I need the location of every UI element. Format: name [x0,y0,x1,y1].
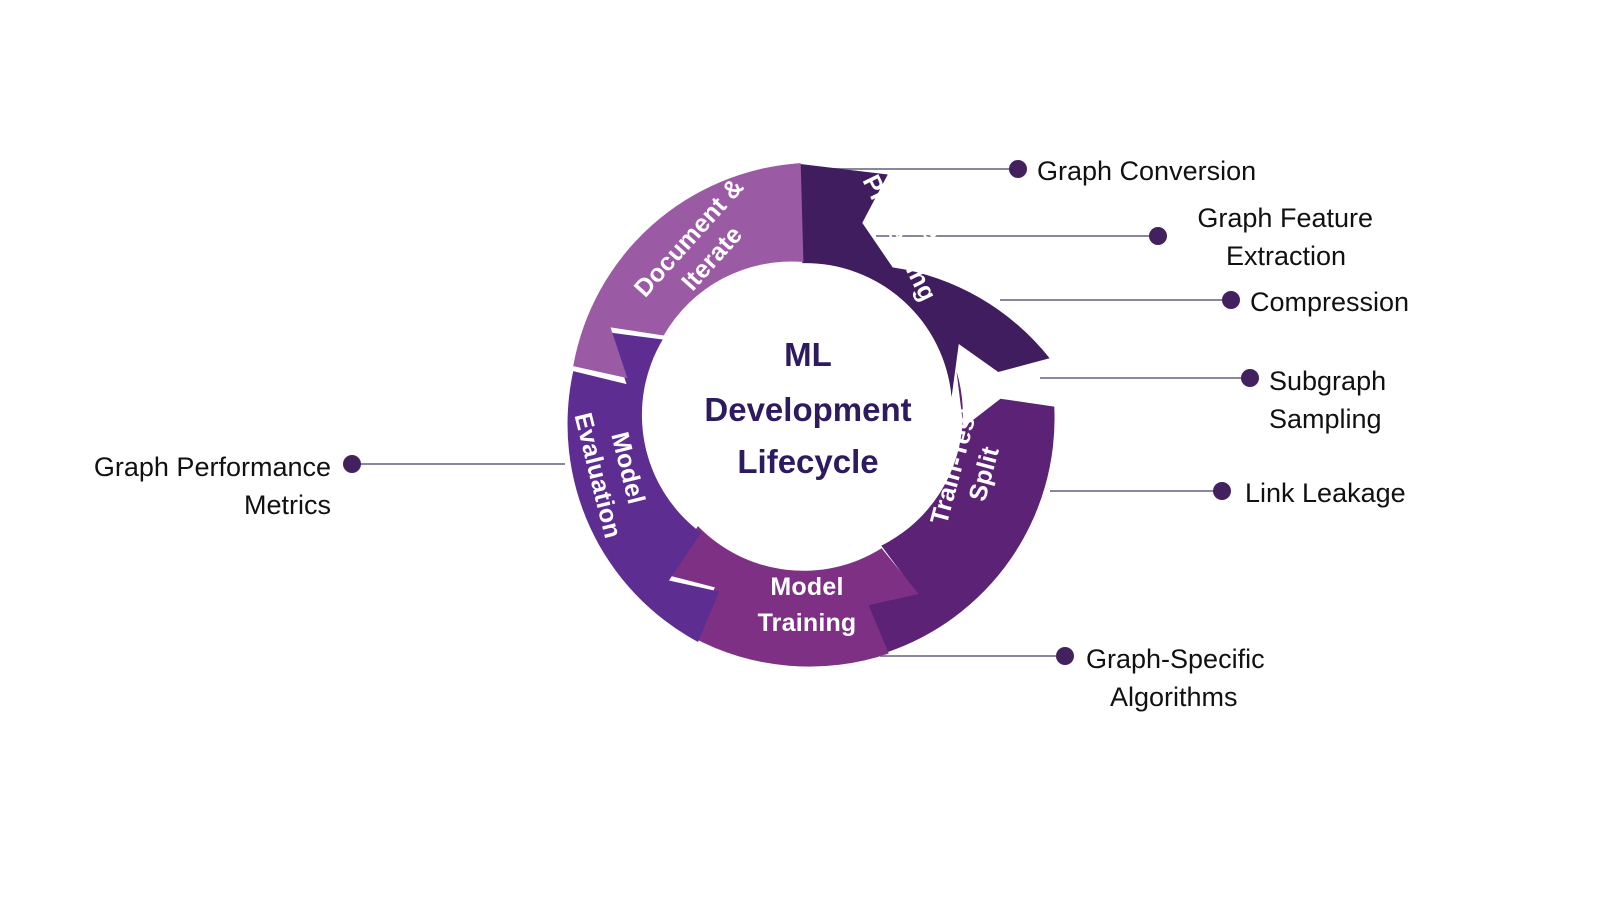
leader-dot-graph-conversion[interactable] [1009,160,1027,178]
callout-compression-line1: Compression [1250,287,1409,317]
leader-dot-graph-performance-metrics[interactable] [343,455,361,473]
callout-compression[interactable]: Compression [1250,287,1409,317]
callout-graph-feature-extraction-line1: Graph Feature [1197,203,1373,233]
center-title-line2: Development [704,391,911,428]
callout-subgraph-sampling-line2: Sampling [1269,404,1382,434]
segment-label-model-training-line1: Model [770,573,843,601]
callout-subgraph-sampling[interactable]: Subgraph Sampling [1269,366,1386,434]
leader-dot-subgraph-sampling[interactable] [1241,369,1259,387]
callout-graph-conversion[interactable]: Graph Conversion [1037,156,1256,186]
segment-label-model-training-line2: Training [758,609,857,637]
callout-graph-conversion-line1: Graph Conversion [1037,156,1256,186]
leader-dot-link-leakage[interactable] [1213,482,1231,500]
callout-link-leakage[interactable]: Link Leakage [1245,478,1406,508]
ml-lifecycle-diagram: Pre- Processing Train-Test Split Model T… [0,0,1600,900]
callout-graph-performance-metrics[interactable]: Graph Performance Metrics [94,452,331,520]
callout-subgraph-sampling-line1: Subgraph [1269,366,1386,396]
callout-graph-feature-extraction-line2: Extraction [1226,241,1346,271]
center-title-line3: Lifecycle [737,443,878,480]
callout-graph-specific-algorithms[interactable]: Graph-Specific Algorithms [1086,644,1265,712]
callout-graph-feature-extraction[interactable]: Graph Feature Extraction [1197,203,1373,271]
callout-graph-specific-algorithms-line2: Algorithms [1110,682,1238,712]
center-title-line1: ML [784,336,832,373]
callout-link-leakage-line1: Link Leakage [1245,478,1406,508]
callout-graph-performance-metrics-line1: Graph Performance [94,452,331,482]
callout-graph-performance-metrics-line2: Metrics [244,490,331,520]
leader-dot-graph-specific-algorithms[interactable] [1056,647,1074,665]
leader-dot-graph-feature-extraction[interactable] [1149,227,1167,245]
diagram-canvas: Pre- Processing Train-Test Split Model T… [0,0,1600,900]
leader-dot-compression[interactable] [1222,291,1240,309]
callout-graph-specific-algorithms-line1: Graph-Specific [1086,644,1265,674]
